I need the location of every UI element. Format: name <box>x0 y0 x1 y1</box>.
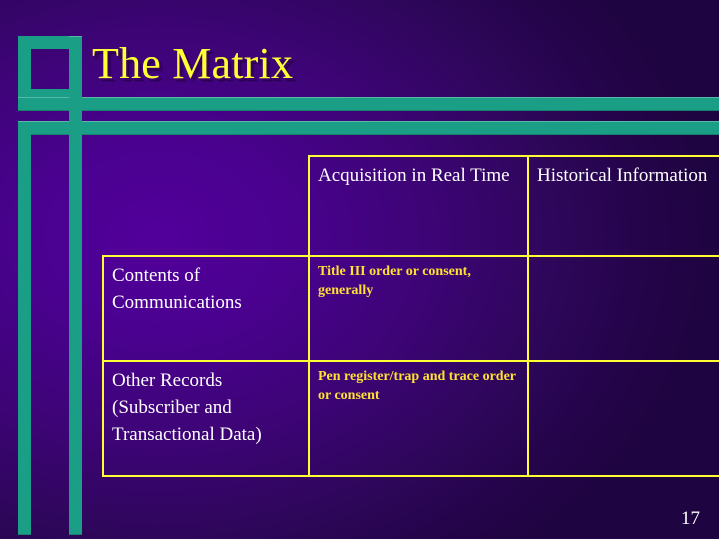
header-label-historical-information: Historical Information <box>537 163 719 190</box>
row-label-text: Other Records (Subscriber and Transactio… <box>112 368 300 449</box>
teal-horizontal-bar-upper <box>18 97 719 111</box>
slide-title: The Matrix <box>92 42 293 86</box>
cell-other-records-real-time: Pen register/trap and trace order or con… <box>309 361 528 476</box>
row-label-text: Contents of Communications <box>112 263 300 317</box>
cell-other-records-historical <box>528 361 719 476</box>
cell-text: Pen register/trap and trace order or con… <box>318 368 519 405</box>
table-header-acquisition-real-time: Acquisition in Real Time <box>309 156 528 256</box>
header-label-acquisition-real-time: Acquisition in Real Time <box>318 163 519 190</box>
table-header-row: Acquisition in Real Time Historical Info… <box>103 156 719 256</box>
table-row: Contents of Communications Title III ord… <box>103 256 719 361</box>
teal-horizontal-bar-lower <box>18 121 719 135</box>
table-header-historical-information: Historical Information <box>528 156 719 256</box>
presentation-slide: The Matrix Acquisition in Real Time Hist… <box>0 0 719 539</box>
table-corner-blank-cell <box>103 156 309 256</box>
table-row: Other Records (Subscriber and Transactio… <box>103 361 719 476</box>
matrix-table: Acquisition in Real Time Historical Info… <box>102 155 719 477</box>
row-label-contents-of-communications: Contents of Communications <box>103 256 309 361</box>
cell-text: Title III order or consent, generally <box>318 263 519 300</box>
page-number: 17 <box>681 509 700 528</box>
cell-contents-historical <box>528 256 719 361</box>
cell-contents-real-time: Title III order or consent, generally <box>309 256 528 361</box>
row-label-other-records: Other Records (Subscriber and Transactio… <box>103 361 309 476</box>
teal-vertical-bar-outer <box>18 121 31 535</box>
teal-vertical-bar-inner <box>69 36 82 535</box>
